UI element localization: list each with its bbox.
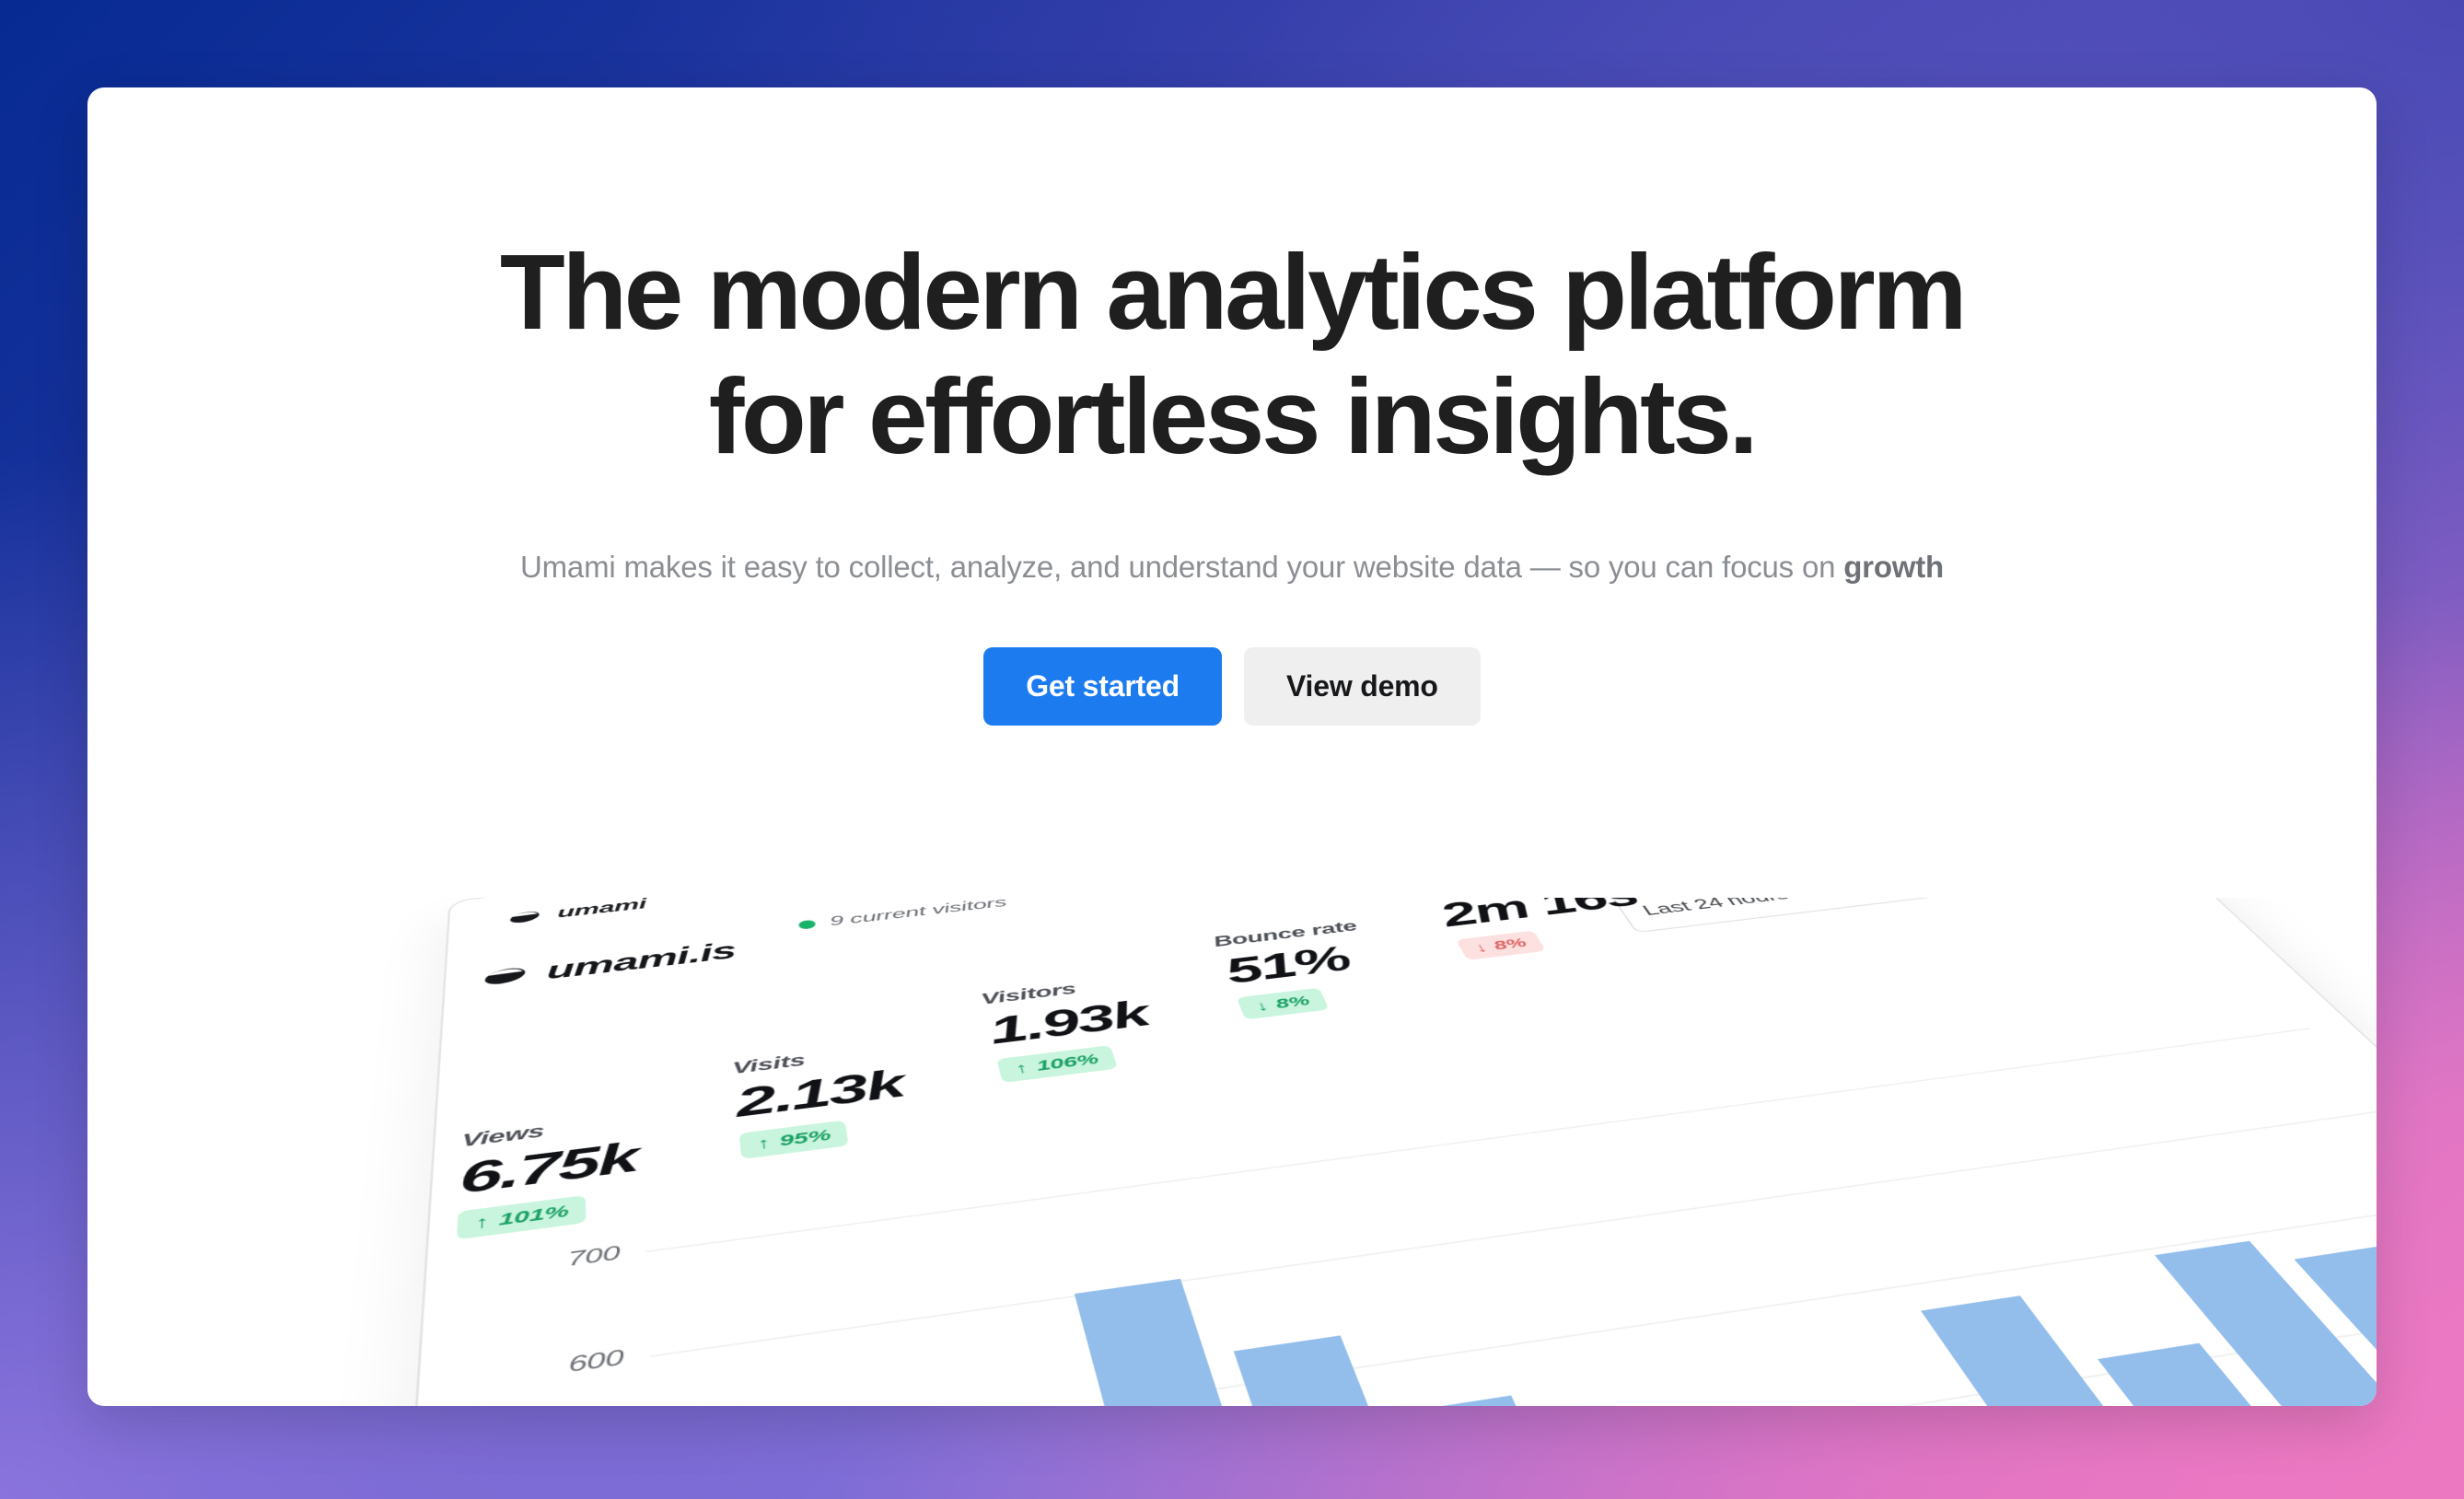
y-axis-tick: 700 (478, 1242, 620, 1284)
chart-bar[interactable] (1401, 1395, 1584, 1406)
metric-change: 101% (499, 1202, 569, 1230)
hero-card: The modern analytics platform for effort… (87, 87, 2377, 1406)
status-badge: ↓ 8% (1237, 988, 1329, 1020)
chart-bar[interactable] (1233, 1335, 1435, 1406)
date-range-value: Last 24 hours (1639, 898, 1793, 919)
live-visitors: 9 current visitors (797, 898, 1008, 933)
trend-up-icon: ↑ (475, 1212, 490, 1233)
hero-subtitle: Umami makes it easy to collect, analyze,… (87, 550, 2377, 585)
trend-down-icon: ↓ (1253, 998, 1271, 1015)
metric-visit-duration[interactable]: Visit duration 2m 16s ↓ 8% (1423, 898, 1666, 960)
trend-down-icon: ↓ (1471, 940, 1491, 956)
headline-line-1: The modern analytics platform (500, 232, 1964, 352)
site-name: umami.is (547, 937, 738, 985)
brand-name-small: umami (557, 898, 646, 922)
metric-views[interactable]: Views 6.75k ↑ 101% (457, 1110, 640, 1239)
site-title: umami.is (482, 937, 737, 993)
metric-change: 106% (1034, 1051, 1100, 1075)
metric-visitors[interactable]: Visitors 1.93k ↑ 106% (980, 973, 1165, 1083)
headline-line-2: for effortless insights. (87, 354, 2377, 479)
metric-value: 2m 16s (1432, 898, 1647, 935)
live-status-dot (798, 920, 817, 930)
umami-logo-icon (509, 910, 541, 924)
brand-small: umami (508, 898, 646, 926)
subtitle-emphasis: growth (1843, 550, 1944, 584)
metric-visits[interactable]: Visits 2.13k ↑ 95% (731, 1040, 913, 1159)
page-title: The modern analytics platform for effort… (87, 230, 2377, 478)
y-axis-tick: 600 (473, 1346, 623, 1392)
status-badge: ↓ 8% (1456, 931, 1546, 960)
trend-up-icon: ↑ (1014, 1060, 1030, 1077)
chart-bar[interactable] (1921, 1296, 2143, 1406)
metric-change: 8% (1490, 935, 1529, 953)
umami-logo-icon-large (482, 965, 527, 987)
view-demo-button[interactable]: View demo (1244, 647, 1481, 726)
trend-up-icon: ↑ (756, 1133, 771, 1153)
dashboard-preview: + Filter ‹ › Last 24 hours (87, 898, 2377, 1406)
metric-change: 8% (1273, 993, 1312, 1012)
metric-bounce-rate[interactable]: Bounce rate 51% ↓ 8% (1211, 918, 1395, 1019)
status-badge: ↑ 106% (997, 1045, 1118, 1083)
cta-row: Get started View demo (87, 647, 2377, 726)
date-range-select[interactable]: Last 24 hours (1610, 898, 1952, 933)
get-started-button[interactable]: Get started (983, 647, 1222, 726)
subtitle-text: Umami makes it easy to collect, analyze,… (520, 550, 1843, 584)
status-badge: ↑ 95% (739, 1120, 850, 1159)
live-visitors-label: 9 current visitors (829, 898, 1008, 929)
dashboard-panel: + Filter ‹ › Last 24 hours (389, 898, 2377, 1406)
metric-change: 95% (778, 1126, 831, 1150)
